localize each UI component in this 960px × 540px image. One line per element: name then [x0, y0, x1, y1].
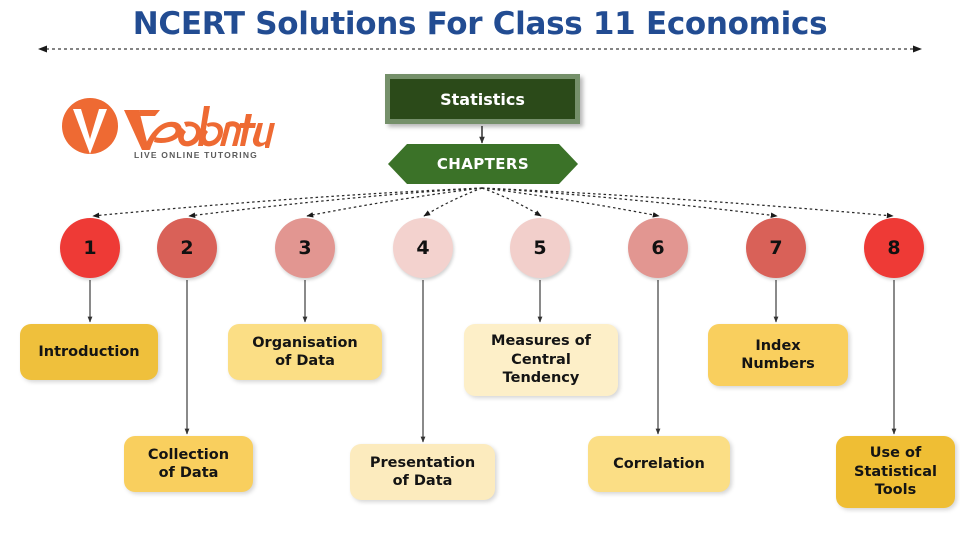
- logo-tagline: LIVE ONLINE TUTORING: [125, 150, 267, 160]
- chapter-circle-5[interactable]: 5: [510, 218, 570, 278]
- chapter-circle-1[interactable]: 1: [60, 218, 120, 278]
- chapter-label-4: Presentation of Data: [370, 454, 475, 491]
- wire-chapters-to-8: [482, 188, 893, 216]
- chapter-circle-7[interactable]: 7: [746, 218, 806, 278]
- chapter-number-2: 2: [180, 237, 193, 259]
- chapter-number-5: 5: [533, 237, 546, 259]
- chapter-label-1: Introduction: [38, 343, 139, 361]
- logo-wordmark-glyph: [124, 106, 275, 150]
- chapter-box-4[interactable]: Presentation of Data: [350, 444, 495, 500]
- wire-chapters-to-3: [307, 188, 482, 216]
- chapter-circle-8[interactable]: 8: [864, 218, 924, 278]
- infographic-canvas: NCERT Solutions For Class 11 Economics L…: [0, 0, 960, 540]
- chapter-number-1: 1: [83, 237, 96, 259]
- node-statistics: Statistics: [385, 74, 580, 124]
- chapter-number-7: 7: [769, 237, 782, 259]
- chapter-box-3[interactable]: Organisation of Data: [228, 324, 382, 380]
- chapter-label-5: Measures of Central Tendency: [491, 332, 591, 387]
- chapter-box-6[interactable]: Correlation: [588, 436, 730, 492]
- chapter-label-8: Use of Statistical Tools: [854, 444, 937, 499]
- chapter-circle-6[interactable]: 6: [628, 218, 688, 278]
- wire-chapters-to-6: [482, 188, 659, 216]
- chapter-circle-3[interactable]: 3: [275, 218, 335, 278]
- chapter-number-4: 4: [416, 237, 429, 259]
- chapter-box-5[interactable]: Measures of Central Tendency: [464, 324, 618, 396]
- chapter-box-1[interactable]: Introduction: [20, 324, 158, 380]
- wire-chapters-to-1: [93, 188, 482, 216]
- chapter-label-7: Index Numbers: [741, 337, 815, 374]
- node-chapters: CHAPTERS: [388, 144, 578, 184]
- title-divider-rule: [38, 44, 922, 54]
- chapter-label-6: Correlation: [613, 455, 705, 473]
- chapter-number-6: 6: [651, 237, 664, 259]
- chapter-number-3: 3: [298, 237, 311, 259]
- chapter-circle-2[interactable]: 2: [157, 218, 217, 278]
- chapter-label-2: Collection of Data: [148, 446, 229, 483]
- chapter-box-7[interactable]: Index Numbers: [708, 324, 848, 386]
- wire-chapters-to-2: [189, 188, 482, 216]
- chapter-label-3: Organisation of Data: [252, 334, 358, 371]
- node-chapters-label: CHAPTERS: [437, 155, 529, 173]
- wire-chapters-to-5: [482, 188, 541, 216]
- chapter-number-8: 8: [887, 237, 900, 259]
- page-title: NCERT Solutions For Class 11 Economics: [0, 6, 960, 42]
- chapter-box-2[interactable]: Collection of Data: [124, 436, 253, 492]
- wire-chapters-to-7: [482, 188, 777, 216]
- chapter-box-8[interactable]: Use of Statistical Tools: [836, 436, 955, 508]
- chapter-circle-4[interactable]: 4: [393, 218, 453, 278]
- wire-chapters-to-4: [424, 188, 482, 216]
- node-statistics-label: Statistics: [440, 90, 525, 109]
